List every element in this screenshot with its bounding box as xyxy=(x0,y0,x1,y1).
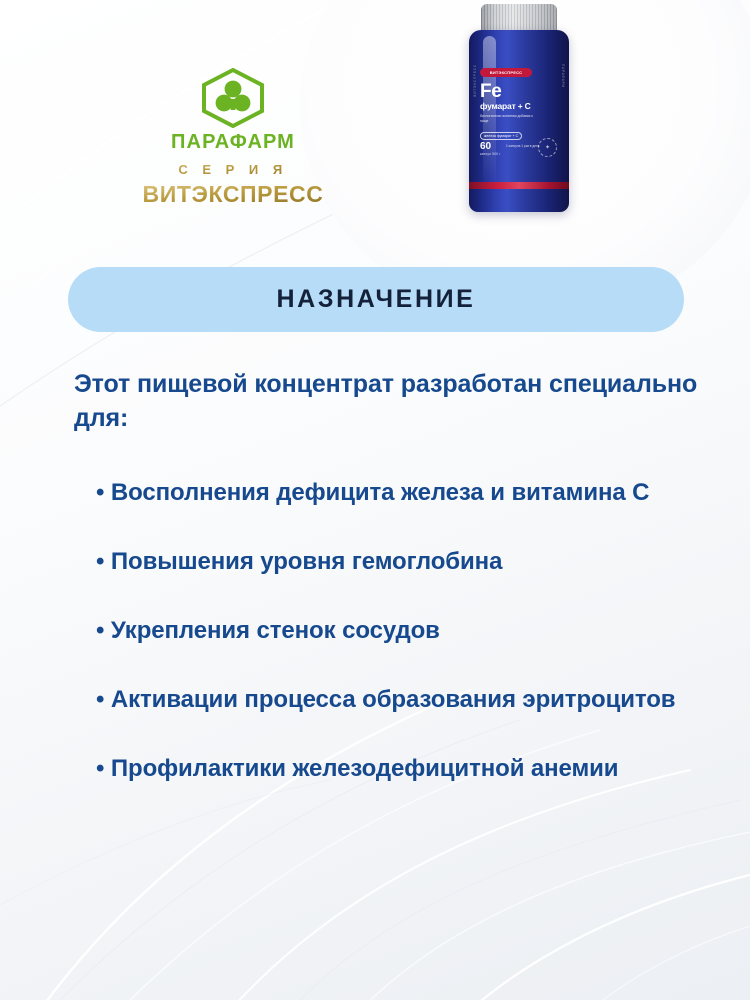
bottle-fine-print: биологически активная добавка к пище xyxy=(480,114,542,124)
bottle-count-unit: капсул 500 г xyxy=(480,153,501,156)
list-item: • Профилактики железодефицитной анемии xyxy=(74,753,704,785)
trefoil-hexagon-logo-icon xyxy=(200,68,266,128)
bottle-red-stripe xyxy=(469,182,569,189)
list-item: • Активации процесса образования эритроц… xyxy=(74,684,704,716)
quality-seal-icon: ✦ xyxy=(538,138,557,157)
bottle-capsule-count: 60 капсул 500 г xyxy=(480,142,501,156)
bottle-subtitle: фумарат + C xyxy=(480,101,558,111)
bottle-side-text-left: ВИТЭКСПРЕСС xyxy=(473,64,477,97)
bottle-label: ВИТЭКСПРЕСС Fe фумарат + C биологически … xyxy=(480,68,558,172)
list-item: • Укрепления стенок сосудов xyxy=(74,615,704,647)
section-title: НАЗНАЧЕНИЕ xyxy=(277,285,476,314)
bottle-side-text-right: ПАРАФАРМ xyxy=(561,64,565,88)
bottle-body: ВИТЭКСПРЕСС ПАРАФАРМ ВИТЭКСПРЕСС Fe фума… xyxy=(469,30,569,212)
brand-series-name: ВИТЭКСПРЕСС xyxy=(118,183,348,206)
purpose-list: • Восполнения дефицита железа и витамина… xyxy=(74,477,704,785)
list-item: • Восполнения дефицита железа и витамина… xyxy=(74,477,704,509)
bottle-brand-pill: ВИТЭКСПРЕСС xyxy=(480,68,532,77)
brand-lockup: ПАРАФАРМ С Е Р И Я ВИТЭКСПРЕСС xyxy=(118,68,348,206)
intro-paragraph: Этот пищевой концентрат разработан специ… xyxy=(74,368,704,435)
brand-series-label: С Е Р И Я xyxy=(118,163,348,176)
list-item: • Повышения уровня гемоглобина xyxy=(74,546,704,578)
brand-name: ПАРАФАРМ xyxy=(118,132,348,152)
section-banner: НАЗНАЧЕНИЕ xyxy=(68,267,684,332)
product-bottle-image: ВИТЭКСПРЕСС ПАРАФАРМ ВИТЭКСПРЕСС Fe фума… xyxy=(469,4,569,212)
content-block: Этот пищевой концентрат разработан специ… xyxy=(74,368,704,785)
bottle-element-name: Fe xyxy=(480,83,558,100)
product-info-slide: ПАРАФАРМ С Е Р И Я ВИТЭКСПРЕСС ВИТЭКСПРЕ… xyxy=(0,0,750,1000)
bottle-ingredient-badge: железа фумарат + C xyxy=(480,132,522,140)
bottle-count-value: 60 xyxy=(480,141,491,152)
bottle-dose-text: 1 капсула 1 раз в день xyxy=(506,144,539,149)
